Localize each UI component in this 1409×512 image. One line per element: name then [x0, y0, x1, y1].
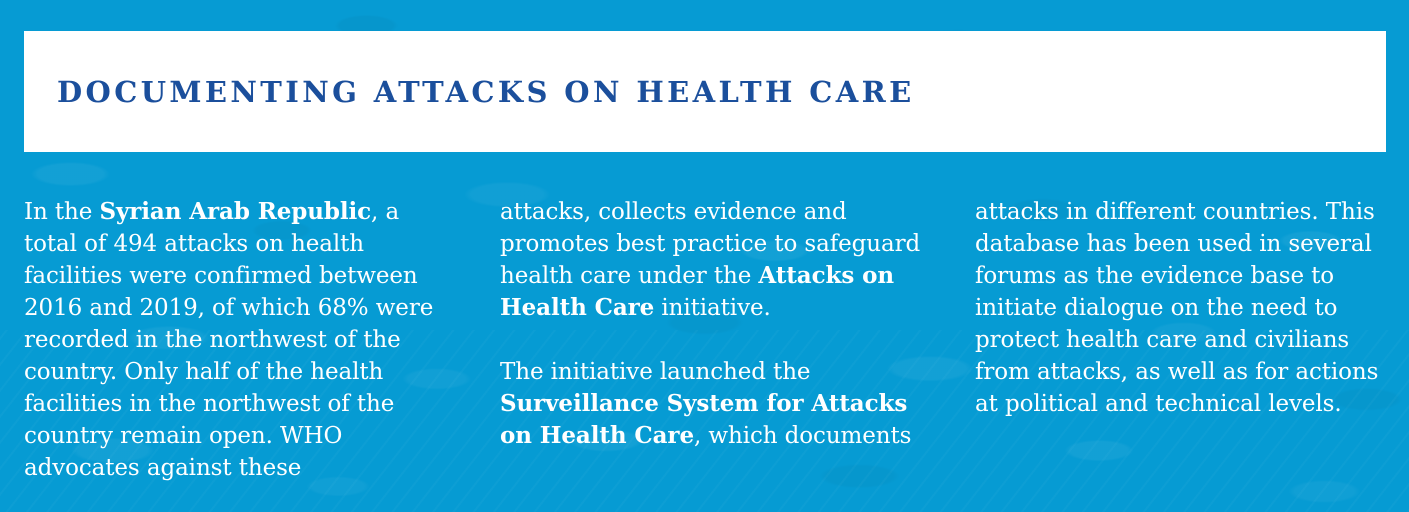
text-column-2: attacks, collects evidence and promotes …: [500, 196, 930, 452]
infographic-panel: DOCUMENTING ATTACKS ON HEALTH CARE In th…: [0, 0, 1409, 512]
body-text: The initiative launched the: [500, 359, 810, 385]
body-text: , a total of 494 attacks on health facil…: [24, 199, 433, 481]
paragraph: attacks in different countries. This dat…: [975, 196, 1387, 420]
emphasis-text: Syrian Arab Republic: [100, 198, 372, 225]
body-text: , which documents: [694, 423, 911, 449]
page-title: DOCUMENTING ATTACKS ON HEALTH CARE: [57, 77, 915, 107]
paragraph: attacks, collects evidence and promotes …: [500, 196, 930, 324]
text-column-3: attacks in different countries. This dat…: [975, 196, 1387, 420]
body-text: initiative.: [654, 295, 770, 321]
paragraph: The initiative launched the Surveillance…: [500, 356, 930, 452]
paragraph: In the Syrian Arab Republic, a total of …: [24, 196, 452, 484]
body-text: attacks in different countries. This dat…: [975, 199, 1378, 417]
body-text: In the: [24, 199, 100, 225]
title-card: DOCUMENTING ATTACKS ON HEALTH CARE: [24, 31, 1386, 152]
text-column-1: In the Syrian Arab Republic, a total of …: [24, 196, 452, 484]
